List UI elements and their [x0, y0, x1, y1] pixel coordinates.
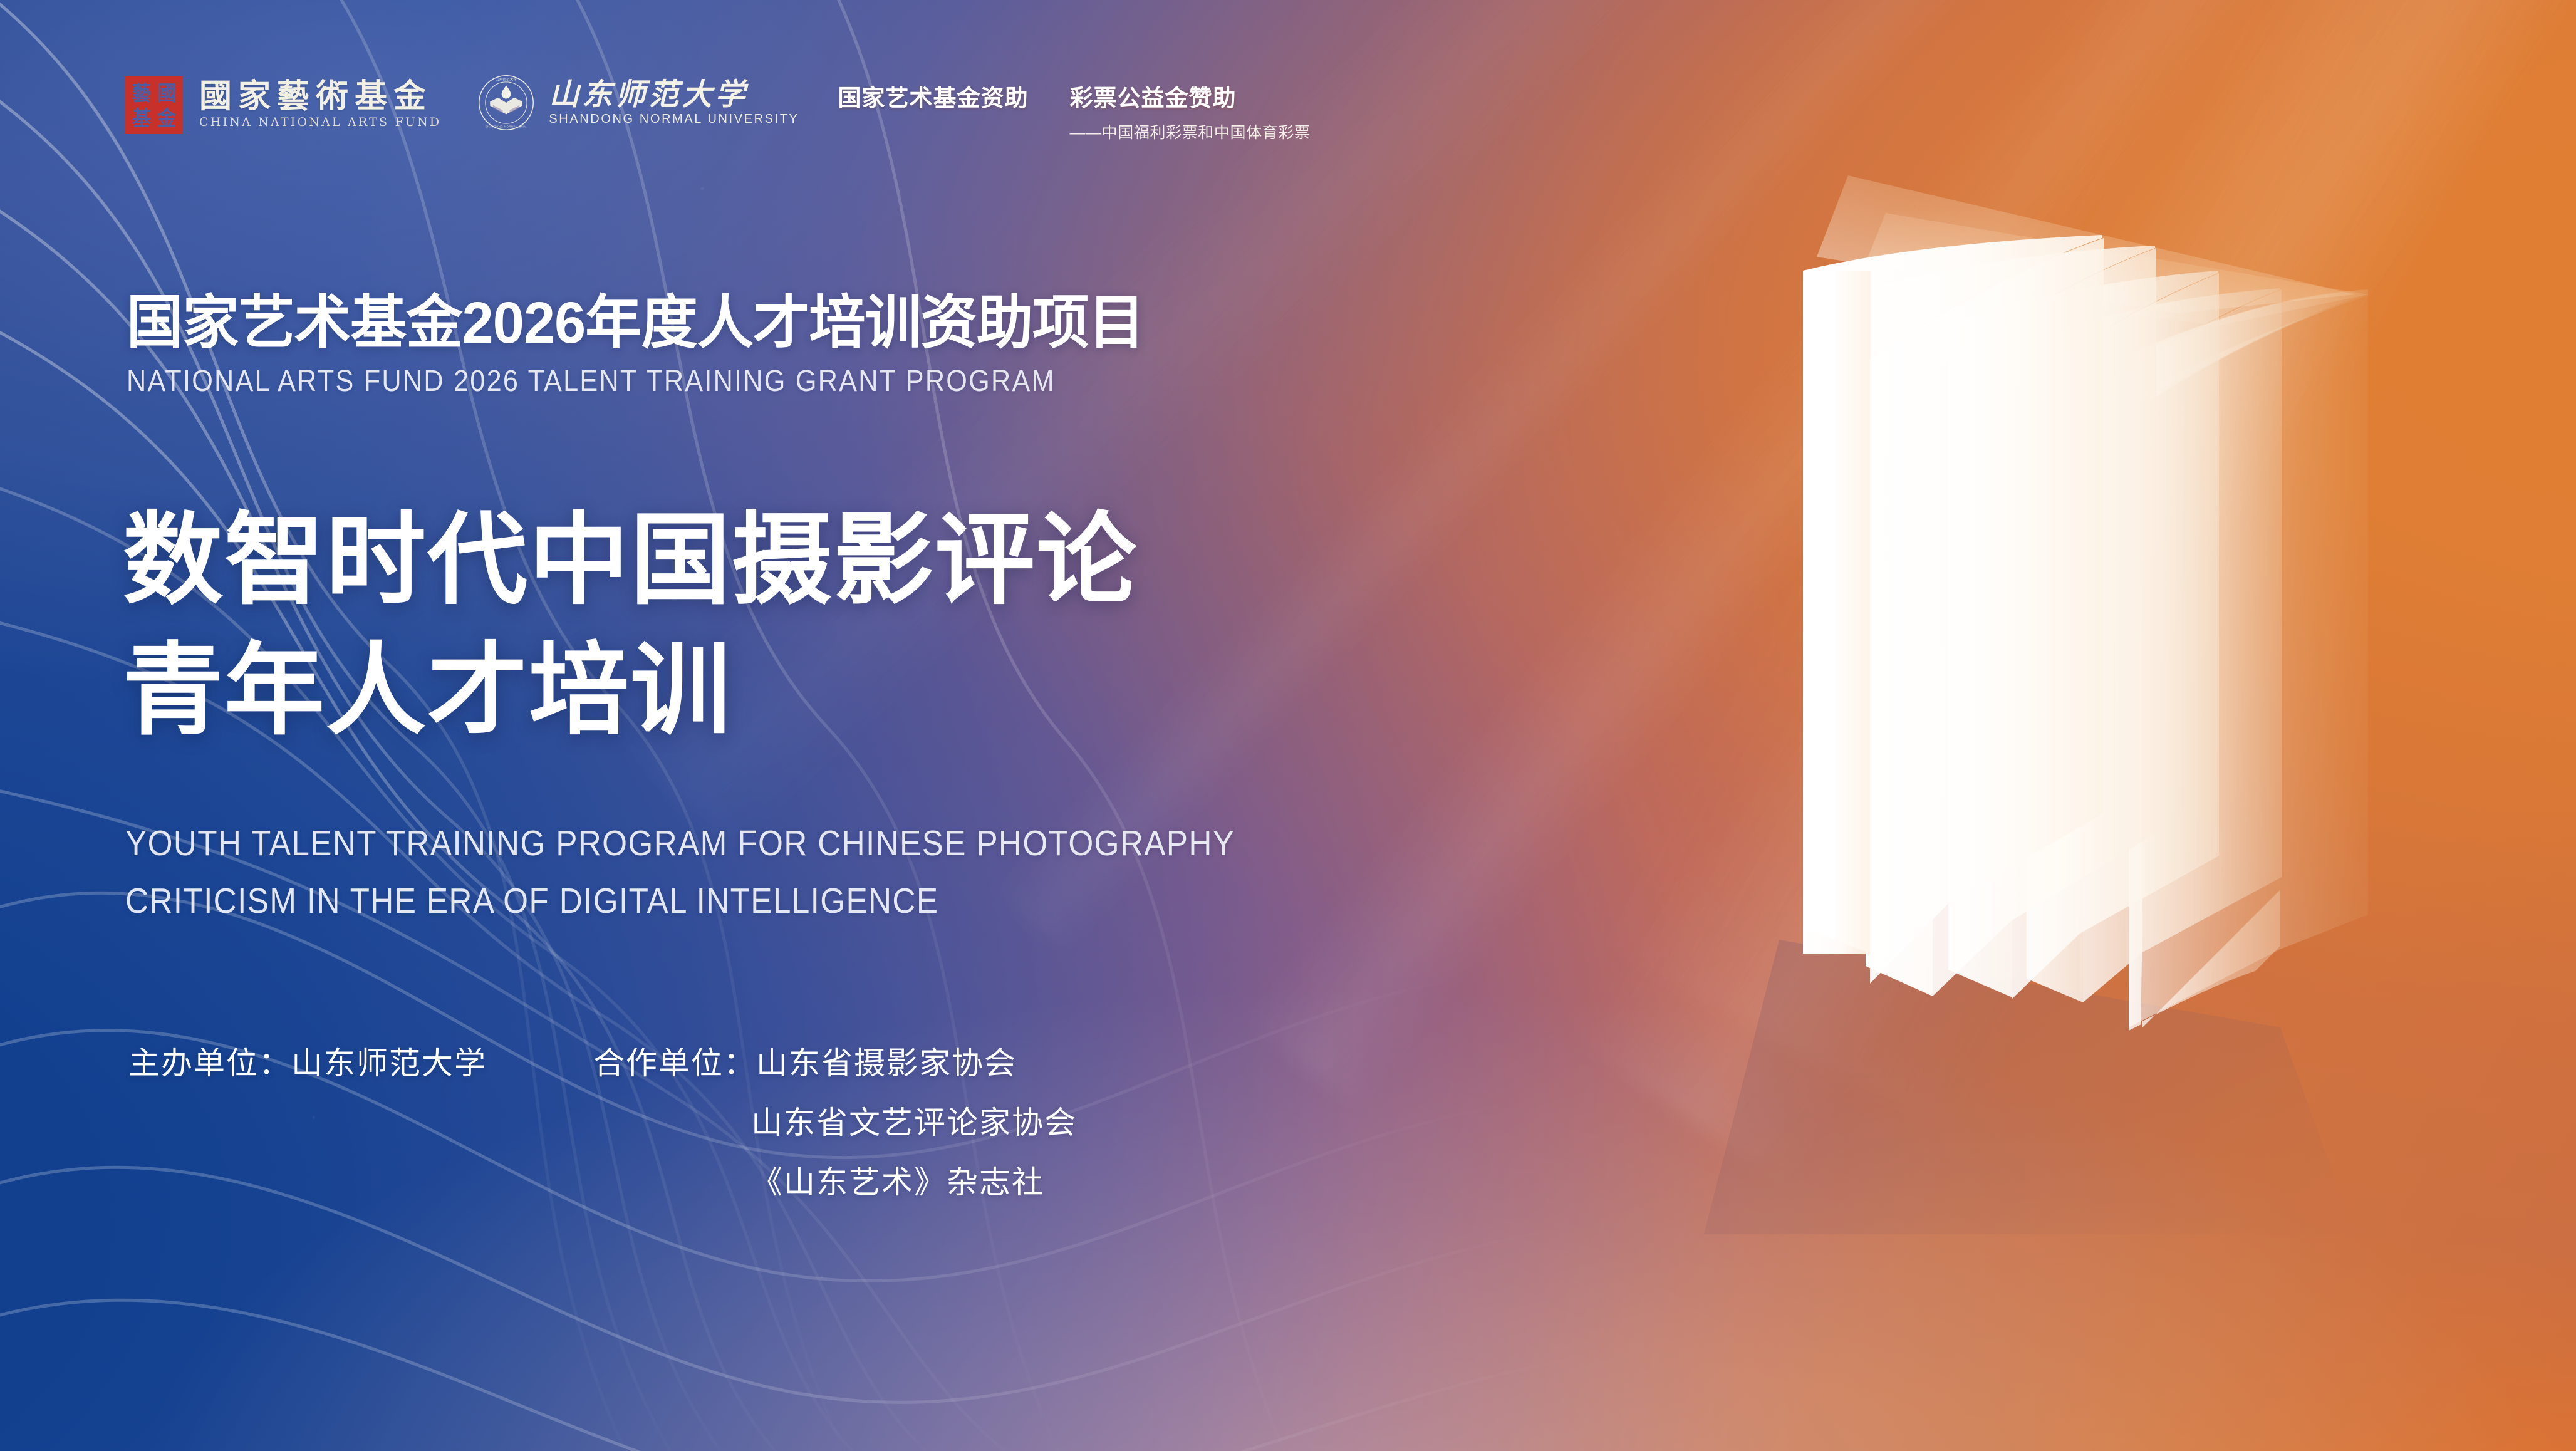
main-subtitle-en: YOUTH TALENT TRAINING PROGRAM FOR CHINES…: [125, 814, 1358, 930]
host-organizer-line: 主办单位：山东师范大学: [128, 1034, 487, 1093]
national-arts-fund-logo: 藝 國 基 金 國家藝術基金 CHINA NATIONAL ARTS FUND: [125, 74, 441, 134]
program-heading: 国家艺术基金2026年度人才培训资助项目 NATIONAL ARTS FUND …: [127, 292, 1176, 398]
subtitle-line-1: YOUTH TALENT TRAINING PROGRAM FOR CHINES…: [125, 814, 1235, 872]
sponsor-lottery-sublabel: ——中国福利彩票和中国体育彩票: [1069, 120, 1310, 143]
sponsor-arts-fund-label: 国家艺术基金资助: [838, 79, 1028, 113]
shandong-normal-university-logo: 山东师范大学 SHANDONG NORMAL UNIV. 山东师范大学 SHAN…: [477, 74, 799, 132]
svg-text:山东师范大学: 山东师范大学: [496, 77, 517, 82]
national-arts-fund-seal-icon: 藝 國 基 金: [125, 76, 183, 134]
main-title-line-2: 青年人才培训: [123, 625, 1138, 756]
program-heading-cn: 国家艺术基金2026年度人才培训资助项目: [127, 292, 1145, 354]
seal-glyph-3: 基: [131, 106, 153, 130]
main-title-line-1: 数智时代中国摄影评论: [123, 495, 1138, 625]
main-title: 数智时代中国摄影评论 青年人才培训: [123, 495, 1138, 756]
sponsor-item-arts-fund: 国家艺术基金资助: [838, 79, 1028, 113]
shandong-normal-university-emblem-icon: 山东师范大学 SHANDONG NORMAL UNIV.: [477, 74, 535, 132]
shandong-normal-university-wordmark: 山东师范大学 SHANDONG NORMAL UNIVERSITY: [549, 79, 799, 127]
subtitle-line-2: CRITICISM IN THE ERA OF DIGITAL INTELLIG…: [125, 872, 1235, 930]
national-arts-fund-wordmark: 國家藝術基金 CHINA NATIONAL ARTS FUND: [199, 79, 441, 129]
sponsor-lottery-label: 彩票公益金赞助: [1069, 79, 1310, 113]
seal-glyph-4: 金: [156, 106, 178, 130]
sponsor-captions: 国家艺术基金资助 彩票公益金赞助 ——中国福利彩票和中国体育彩票: [838, 74, 1310, 143]
national-arts-fund-name-en: CHINA NATIONAL ARTS FUND: [199, 115, 441, 129]
national-arts-fund-name-cn: 國家藝術基金: [199, 79, 441, 114]
organizer-section: 主办单位：山东师范大学 合作单位：山东省摄影家协会 山东省文艺评论家协会 《山东…: [128, 1034, 1077, 1212]
partner-organizer-block: 合作单位：山东省摄影家协会 山东省文艺评论家协会 《山东艺术》杂志社: [593, 1034, 1077, 1212]
seal-glyph-1: 藝: [131, 81, 153, 105]
logo-bar: 藝 國 基 金 國家藝術基金 CHINA NATIONAL ARTS FUND: [125, 74, 1310, 143]
seal-glyph-2: 國: [156, 81, 178, 105]
shandong-normal-university-name-cn: 山东师范大学: [549, 79, 799, 111]
sponsor-item-lottery: 彩票公益金赞助 ——中国福利彩票和中国体育彩票: [1069, 79, 1310, 143]
shandong-normal-university-name-en: SHANDONG NORMAL UNIVERSITY: [549, 112, 799, 127]
host-organizer-block: 主办单位：山东师范大学: [128, 1034, 487, 1212]
program-heading-en: NATIONAL ARTS FUND 2026 TALENT TRAINING …: [127, 364, 1071, 398]
partner-organizer-line-2: 山东省文艺评论家协会: [593, 1093, 1077, 1153]
poster-canvas: 藝 國 基 金 國家藝術基金 CHINA NATIONAL ARTS FUND: [0, 0, 2576, 1451]
svg-text:SHANDONG NORMAL UNIV.: SHANDONG NORMAL UNIV.: [486, 125, 527, 128]
partner-organizer-line-3: 《山东艺术》杂志社: [593, 1153, 1077, 1212]
partner-organizer-line-1: 合作单位：山东省摄影家协会: [593, 1034, 1077, 1093]
poster-content: 藝 國 基 金 國家藝術基金 CHINA NATIONAL ARTS FUND: [0, 0, 2576, 1451]
